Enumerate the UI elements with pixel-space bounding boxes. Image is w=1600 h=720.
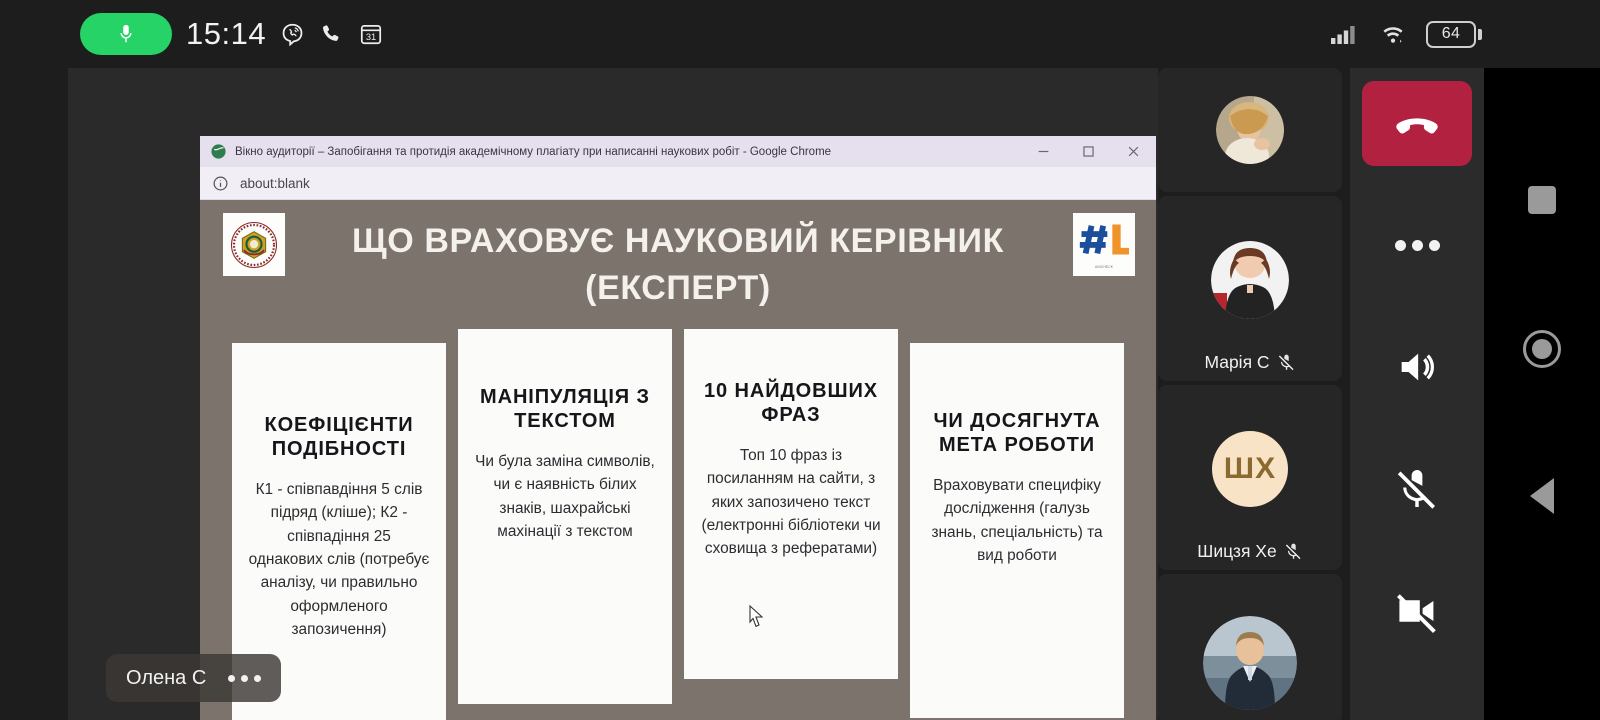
slide-card: ЧИ ДОСЯГНУТА МЕТА РОБОТИ Враховувати спе… xyxy=(910,343,1124,718)
avatar xyxy=(1216,96,1284,164)
participant-label: Шицзя Хе xyxy=(1158,541,1342,562)
card-body: К1 - співпавдіння 5 слів підряд (кліше);… xyxy=(248,478,430,642)
chrome-window-title: Вікно аудиторії – Запобігання та протиді… xyxy=(235,146,831,158)
camera-button[interactable] xyxy=(1362,572,1472,650)
card-title: ЧИ ДОСЯГНУТА МЕТА РОБОТИ xyxy=(926,409,1108,458)
mic-active-pill[interactable] xyxy=(80,13,172,55)
avatar xyxy=(1211,241,1289,319)
home-icon[interactable] xyxy=(1523,330,1561,368)
globe-favicon-icon xyxy=(210,143,227,160)
speaker-on-icon xyxy=(1394,344,1440,390)
battery-level: 64 xyxy=(1426,21,1476,48)
microphone-muted-icon xyxy=(1394,466,1440,512)
unicheck-hash-logo: UNICHECK xyxy=(1073,213,1135,276)
wifi-icon xyxy=(1378,22,1408,46)
android-nav-rail[interactable] xyxy=(1484,68,1600,720)
end-call-button[interactable] xyxy=(1362,81,1472,166)
participant-name: Марія С xyxy=(1204,352,1269,373)
participant-tile[interactable] xyxy=(1158,68,1342,192)
presenter-more-options-icon[interactable] xyxy=(228,675,261,682)
chrome-title-bar[interactable]: Вікно аудиторії – Запобігання та протиді… xyxy=(200,136,1156,167)
screen-share-stage: Вікно аудиторії – Запобігання та протиді… xyxy=(68,68,1158,720)
participant-label: Марія С xyxy=(1158,352,1342,373)
avatar-initials: ШХ xyxy=(1212,431,1288,507)
microphone-button[interactable] xyxy=(1362,450,1472,528)
mic-muted-icon xyxy=(1277,353,1296,372)
maximize-button[interactable] xyxy=(1066,136,1111,167)
android-screen: 15:14 31 xyxy=(0,0,1600,720)
status-bar-right-group: 64 xyxy=(1330,21,1482,48)
recent-apps-icon[interactable] xyxy=(1528,186,1556,214)
android-status-bar: 15:14 31 xyxy=(0,0,1600,68)
participant-tile[interactable]: ШХ Шицзя Хе xyxy=(1158,385,1342,570)
slide-card: 10 НАЙДОВШИХ ФРАЗ Топ 10 фраз із посилан… xyxy=(684,329,898,679)
slide-cards-row: КОЕФІЦІЄНТИ ПОДІБНОСТІ К1 - співпавдіння… xyxy=(200,329,1156,720)
camera-off-icon xyxy=(1393,587,1441,635)
card-body: Топ 10 фраз із посиланням на сайти, з як… xyxy=(700,444,882,561)
viber-icon xyxy=(280,22,305,47)
card-title: КОЕФІЦІЄНТИ ПОДІБНОСТІ xyxy=(248,413,430,462)
address-bar-url: about:blank xyxy=(240,176,310,191)
minimize-button[interactable] xyxy=(1021,136,1066,167)
avatar xyxy=(1203,616,1297,710)
signal-icon xyxy=(1330,22,1360,46)
participant-tile[interactable] xyxy=(1158,574,1342,720)
battery-icon: 64 xyxy=(1426,21,1482,48)
presentation-slide: UNICHECK ЩО ВРАХОВУЄ НАУКОВИЙ КЕРІВНИК (… xyxy=(200,200,1156,720)
presenter-name-chip[interactable]: Олена С xyxy=(106,654,281,702)
card-title: МАНІПУЛЯЦІЯ З ТЕКСТОМ xyxy=(474,385,656,434)
card-title: 10 НАЙДОВШИХ ФРАЗ xyxy=(700,379,882,428)
participant-rail[interactable]: Марія С ШХ Шицзя Хе xyxy=(1158,68,1342,720)
more-options-button[interactable] xyxy=(1362,206,1472,284)
status-bar-left-group: 15:14 31 xyxy=(80,13,384,55)
participant-tile[interactable]: Марія С xyxy=(1158,196,1342,381)
university-emblem-logo xyxy=(223,213,285,276)
window-controls xyxy=(1021,136,1156,167)
call-controls-rail[interactable] xyxy=(1350,68,1484,720)
participant-name: Шицзя Хе xyxy=(1197,541,1276,562)
back-icon[interactable] xyxy=(1530,478,1554,514)
more-options-icon xyxy=(1395,240,1440,251)
card-body: Враховувати специфіку дослідження (галуз… xyxy=(926,474,1108,568)
phone-icon xyxy=(319,22,344,47)
chrome-address-bar[interactable]: about:blank xyxy=(200,167,1156,200)
svg-text:31: 31 xyxy=(366,32,376,42)
avatar-initials-text: ШХ xyxy=(1224,452,1276,486)
speaker-button[interactable] xyxy=(1362,328,1472,406)
calendar-31-icon: 31 xyxy=(358,21,384,47)
end-call-icon xyxy=(1391,98,1443,150)
mic-muted-icon xyxy=(1284,542,1303,561)
slide-card: МАНІПУЛЯЦІЯ З ТЕКСТОМ Чи була заміна сим… xyxy=(458,329,672,704)
microphone-icon xyxy=(115,19,137,49)
card-body: Чи була заміна символів, чи є наявність … xyxy=(474,450,656,544)
status-bar-clock: 15:14 xyxy=(186,16,266,52)
close-button[interactable] xyxy=(1111,136,1156,167)
slide-title: ЩО ВРАХОВУЄ НАУКОВИЙ КЕРІВНИК (ЕКСПЕРТ) xyxy=(200,200,1156,312)
chrome-window: Вікно аудиторії – Запобігання та протиді… xyxy=(200,136,1156,720)
page-info-icon[interactable] xyxy=(212,175,229,192)
presenter-name: Олена С xyxy=(126,667,206,690)
